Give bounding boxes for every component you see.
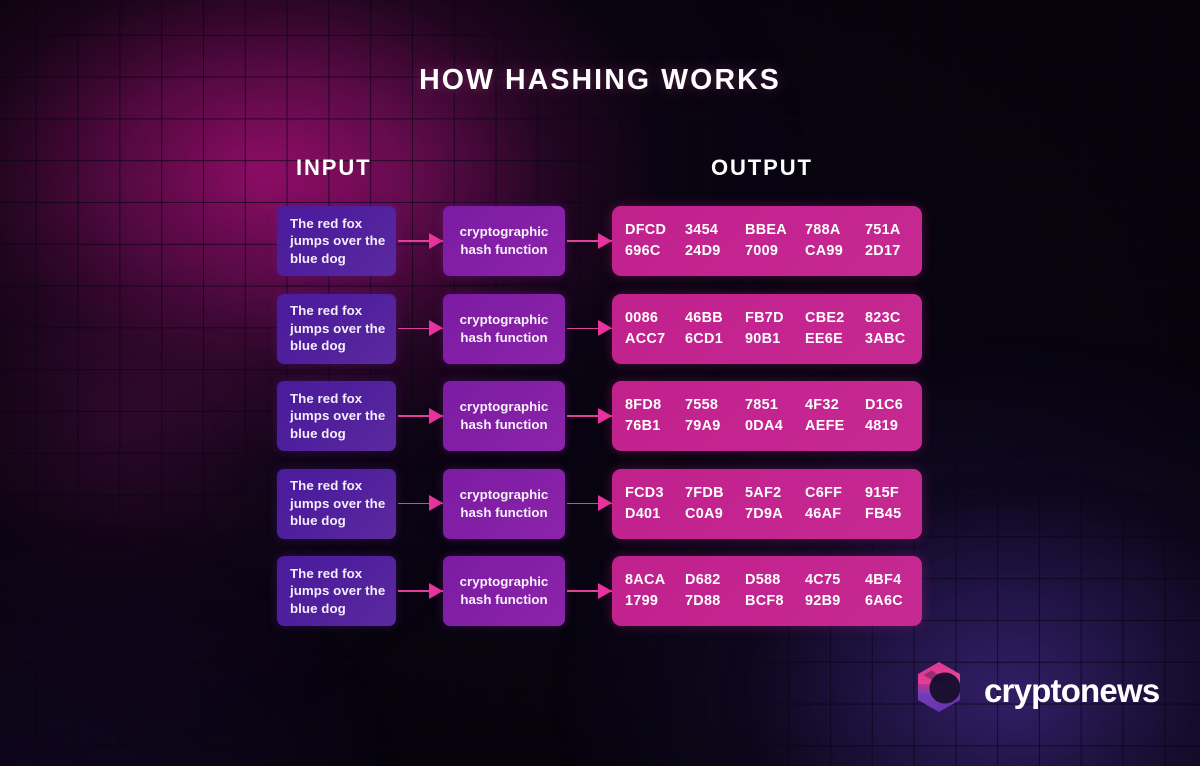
hash-output-line: 8ACAD682D5884C754BF4 [625,570,922,591]
hash-rows-list: The red fox jumps over the blue dogcrypt… [0,206,1200,644]
input-message-text: The red fox jumps over the blue dog [290,302,396,355]
hash-output-group: 8ACA [625,570,685,591]
hash-output-group: C0A9 [685,504,745,525]
input-message-text: The red fox jumps over the blue dog [290,565,396,618]
hash-function-label: cryptographic hash function [443,486,565,521]
hash-output-group: D588 [745,570,805,591]
hash-output-group: 7009 [745,241,805,262]
hash-output-group: 2D17 [865,241,925,262]
arrow-input-to-function-icon [398,326,443,332]
cryptonews-logo-text: cryptonews [984,672,1159,710]
input-message-box: The red fox jumps over the blue dog [277,206,396,276]
arrow-input-to-function-icon [398,413,443,419]
hash-row: The red fox jumps over the blue dogcrypt… [0,294,1200,364]
hash-output-group: 6CD1 [685,329,745,350]
hash-function-label: cryptographic hash function [443,398,565,433]
hash-output-group: 0086 [625,308,685,329]
hash-row: The red fox jumps over the blue dogcrypt… [0,206,1200,276]
cryptonews-logo: cryptonews [908,660,1159,722]
hash-output-group: 7851 [745,395,805,416]
hash-output-group: 7D88 [685,591,745,612]
hash-function-box: cryptographic hash function [443,469,565,539]
output-hash-box: DFCD3454BBEA788A751A696C24D97009CA992D17 [612,206,922,276]
hash-function-label: cryptographic hash function [443,573,565,608]
page-title: HOW HASHING WORKS [0,64,1200,97]
arrow-function-to-output-icon [567,413,612,419]
hash-output-group: BCF8 [745,591,805,612]
hash-output-group: D1C6 [865,395,925,416]
hash-output-line: 76B179A90DA4AEFE4819 [625,416,922,437]
input-message-text: The red fox jumps over the blue dog [290,390,396,443]
hash-output-group: AEFE [805,416,865,437]
hash-output-group: 3454 [685,220,745,241]
arrow-input-to-function-icon [398,588,443,594]
input-message-box: The red fox jumps over the blue dog [277,381,396,451]
output-hash-box: FCD37FDB5AF2C6FF915FD401C0A97D9A46AFFB45 [612,469,922,539]
output-hash-box: 008646BBFB7DCBE2823CACC76CD190B1EE6E3ABC [612,294,922,364]
output-hash-box: 8FD8755878514F32D1C676B179A90DA4AEFE4819 [612,381,922,451]
hash-output-group: ACC7 [625,329,685,350]
arrow-function-to-output-icon [567,326,612,332]
column-header-input: INPUT [296,155,372,181]
input-message-box: The red fox jumps over the blue dog [277,294,396,364]
hash-output-group: 915F [865,483,925,504]
hash-output-group: FB45 [865,504,925,525]
hash-output-group: D401 [625,504,685,525]
hash-row: The red fox jumps over the blue dogcrypt… [0,381,1200,451]
output-hash-box: 8ACAD682D5884C754BF417997D88BCF892B96A6C [612,556,922,626]
hash-output-group: 7D9A [745,504,805,525]
hash-output-group: 751A [865,220,925,241]
hash-output-group: BBEA [745,220,805,241]
arrow-function-to-output-icon [567,501,612,507]
hash-output-line: 17997D88BCF892B96A6C [625,591,922,612]
hash-output-group: 90B1 [745,329,805,350]
hash-output-group: EE6E [805,329,865,350]
hash-output-group: FCD3 [625,483,685,504]
hash-function-label: cryptographic hash function [443,311,565,346]
hash-function-box: cryptographic hash function [443,294,565,364]
hash-output-group: 92B9 [805,591,865,612]
hash-output-line: FCD37FDB5AF2C6FF915F [625,483,922,504]
column-header-output: OUTPUT [711,155,813,181]
hash-output-line: 8FD8755878514F32D1C6 [625,395,922,416]
hash-output-group: 0DA4 [745,416,805,437]
hash-output-group: 4C75 [805,570,865,591]
hash-function-box: cryptographic hash function [443,206,565,276]
infographic-content: HOW HASHING WORKS INPUT OUTPUT The red f… [0,0,1200,766]
hash-output-group: 8FD8 [625,395,685,416]
infographic-canvas: HOW HASHING WORKS INPUT OUTPUT The red f… [0,0,1200,766]
input-message-box: The red fox jumps over the blue dog [277,556,396,626]
hash-output-group: 696C [625,241,685,262]
hash-output-line: DFCD3454BBEA788A751A [625,220,922,241]
hash-output-group: 823C [865,308,925,329]
hash-function-box: cryptographic hash function [443,556,565,626]
hash-output-group: 46BB [685,308,745,329]
arrow-function-to-output-icon [567,238,612,244]
hash-output-group: 5AF2 [745,483,805,504]
hash-output-group: 788A [805,220,865,241]
hash-output-group: C6FF [805,483,865,504]
hash-output-group: 4F32 [805,395,865,416]
hash-output-group: 4819 [865,416,925,437]
cryptonews-hexagon-logo-icon [908,660,970,722]
hash-output-group: 6A6C [865,591,925,612]
hash-function-label: cryptographic hash function [443,223,565,258]
hash-row: The red fox jumps over the blue dogcrypt… [0,469,1200,539]
input-message-text: The red fox jumps over the blue dog [290,477,396,530]
hash-output-line: ACC76CD190B1EE6E3ABC [625,329,922,350]
hash-output-group: 1799 [625,591,685,612]
hash-output-group: 46AF [805,504,865,525]
hash-output-group: D682 [685,570,745,591]
hash-output-group: 76B1 [625,416,685,437]
hash-output-group: 3ABC [865,329,925,350]
arrow-function-to-output-icon [567,588,612,594]
input-message-text: The red fox jumps over the blue dog [290,215,396,268]
input-message-box: The red fox jumps over the blue dog [277,469,396,539]
hash-output-group: 24D9 [685,241,745,262]
arrow-input-to-function-icon [398,238,443,244]
hash-output-group: FB7D [745,308,805,329]
hash-output-line: D401C0A97D9A46AFFB45 [625,504,922,525]
hash-output-group: DFCD [625,220,685,241]
hash-output-line: 696C24D97009CA992D17 [625,241,922,262]
hash-output-group: CBE2 [805,308,865,329]
hash-output-line: 008646BBFB7DCBE2823C [625,308,922,329]
arrow-input-to-function-icon [398,501,443,507]
hash-output-group: 4BF4 [865,570,925,591]
hash-row: The red fox jumps over the blue dogcrypt… [0,556,1200,626]
hash-output-group: 7558 [685,395,745,416]
hash-output-group: CA99 [805,241,865,262]
hash-output-group: 79A9 [685,416,745,437]
hash-output-group: 7FDB [685,483,745,504]
hash-function-box: cryptographic hash function [443,381,565,451]
